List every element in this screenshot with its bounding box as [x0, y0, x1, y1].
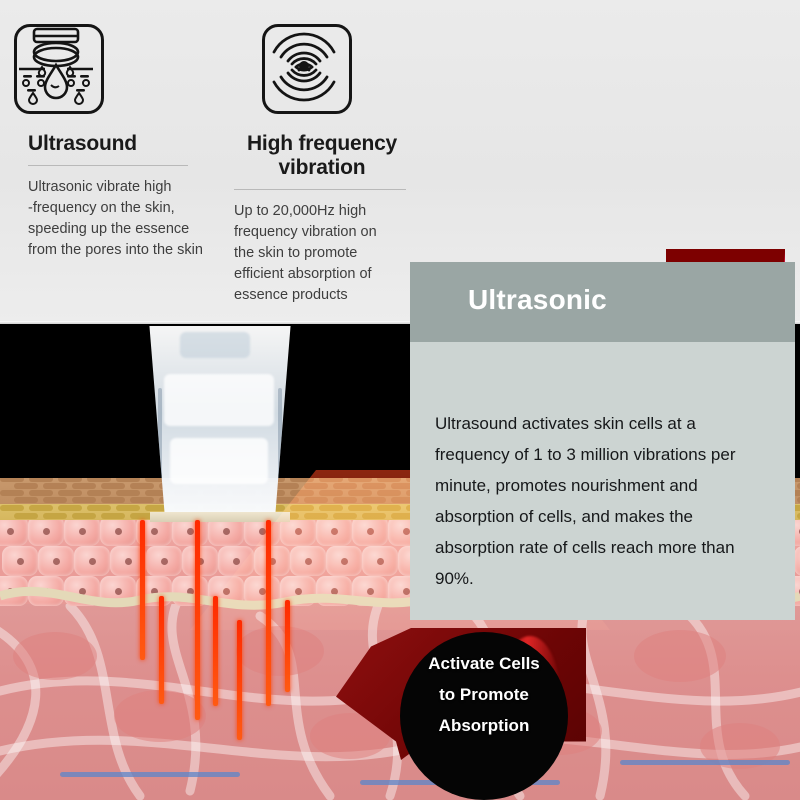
skin-cell: [100, 516, 136, 546]
corneum-brick: [304, 483, 328, 489]
ultrasound-ray: [285, 600, 290, 692]
divider: [234, 189, 406, 190]
lipid-brick: [362, 513, 386, 519]
corneum-brick: [319, 490, 343, 496]
corneum-brick: [29, 490, 53, 496]
corneum-brick: [348, 490, 372, 496]
lipid-brick: [58, 505, 82, 511]
corneum-brick: [333, 483, 357, 489]
skin-cell: [38, 546, 74, 576]
feature-body-text: Up to 20,000Hz high frequency vibration …: [234, 201, 416, 306]
corneum-brick: [377, 490, 401, 496]
ultrasound-ray: [213, 596, 218, 706]
skin-cell: [326, 546, 362, 576]
card-title: Ultrasonic: [468, 284, 607, 316]
divider: [28, 165, 188, 166]
feature-body-text: Ultrasonic vibrate high -frequency on th…: [28, 177, 214, 261]
corneum-brick: [43, 483, 67, 489]
skin-cell: [218, 546, 254, 576]
feature-heading: Ultrasound: [28, 132, 214, 156]
lipid-brick: [377, 505, 401, 511]
skin-cell: [146, 546, 182, 576]
corneum-brick: [101, 483, 125, 489]
corneum-brick: [72, 497, 96, 503]
corneum-brick: [130, 497, 154, 503]
lipid-brick: [87, 505, 111, 511]
corneum-brick: [130, 483, 154, 489]
blood-vessel: [620, 760, 790, 765]
lipid-brick: [14, 513, 38, 519]
corneum-brick: [275, 497, 299, 503]
card-header: Ultrasonic: [410, 262, 795, 342]
ultrasound-ray: [195, 520, 200, 720]
corneum-brick: [116, 490, 140, 496]
ultrasound-ray: [237, 620, 242, 740]
corneum-brick: [14, 483, 38, 489]
skin-cell: [74, 546, 110, 576]
high-frequency-waves-icon: [262, 24, 352, 114]
skin-cell: [362, 546, 398, 576]
skin-cell: [254, 546, 290, 576]
corneum-brick: [87, 490, 111, 496]
ultrasound-skin-penetration-icon: [14, 24, 104, 114]
lipid-brick: [43, 513, 67, 519]
lipid-brick: [0, 505, 24, 511]
skin-cell: [352, 516, 388, 546]
lipid-brick: [348, 505, 372, 511]
corneum-brick: [0, 490, 24, 496]
skin-cell: [0, 516, 28, 546]
lipid-brick: [333, 513, 357, 519]
lipid-brick: [101, 513, 125, 519]
lipid-brick: [29, 505, 53, 511]
corneum-brick: [304, 497, 328, 503]
lipid-brick: [290, 505, 314, 511]
lipid-brick: [72, 513, 96, 519]
corneum-brick: [58, 490, 82, 496]
blood-vessel: [60, 772, 240, 777]
callout-line: to Promote: [400, 679, 568, 710]
lipid-brick: [319, 505, 343, 511]
corneum-brick: [362, 483, 386, 489]
lipid-brick: [304, 513, 328, 519]
corneum-brick: [333, 497, 357, 503]
corneum-brick: [14, 497, 38, 503]
skin-cell: [316, 516, 352, 546]
skin-cell: [28, 516, 64, 546]
callout-line: Absorption: [400, 710, 568, 741]
corneum-brick: [275, 483, 299, 489]
skin-cell: [182, 546, 218, 576]
skin-cell: [2, 546, 38, 576]
corneum-brick: [101, 497, 125, 503]
skin-cell: [290, 546, 326, 576]
callout-bubble-text: Activate Cells to Promote Absorption: [400, 648, 568, 741]
corneum-brick: [362, 497, 386, 503]
card-description: Ultrasound activates skin cells at a fre…: [435, 408, 765, 594]
ultrasound-ray: [266, 520, 271, 706]
corneum-brick: [72, 483, 96, 489]
feature-column-high-frequency: High frequency vibration Up to 20,000Hz …: [228, 0, 416, 306]
corneum-brick: [43, 497, 67, 503]
feature-heading: High frequency vibration: [228, 132, 416, 180]
corneum-brick: [290, 490, 314, 496]
ultrasound-ray: [159, 596, 164, 704]
ultrasound-ray: [140, 520, 145, 660]
callout-line: Activate Cells: [400, 648, 568, 679]
skin-cell: [64, 516, 100, 546]
card-body: Ultrasound activates skin cells at a fre…: [410, 342, 795, 620]
product-infographic: Ultrasound Ultrasonic vibrate high -freq…: [0, 0, 800, 800]
feature-column-ultrasound: Ultrasound Ultrasonic vibrate high -freq…: [14, 0, 214, 261]
lipid-brick: [116, 505, 140, 511]
